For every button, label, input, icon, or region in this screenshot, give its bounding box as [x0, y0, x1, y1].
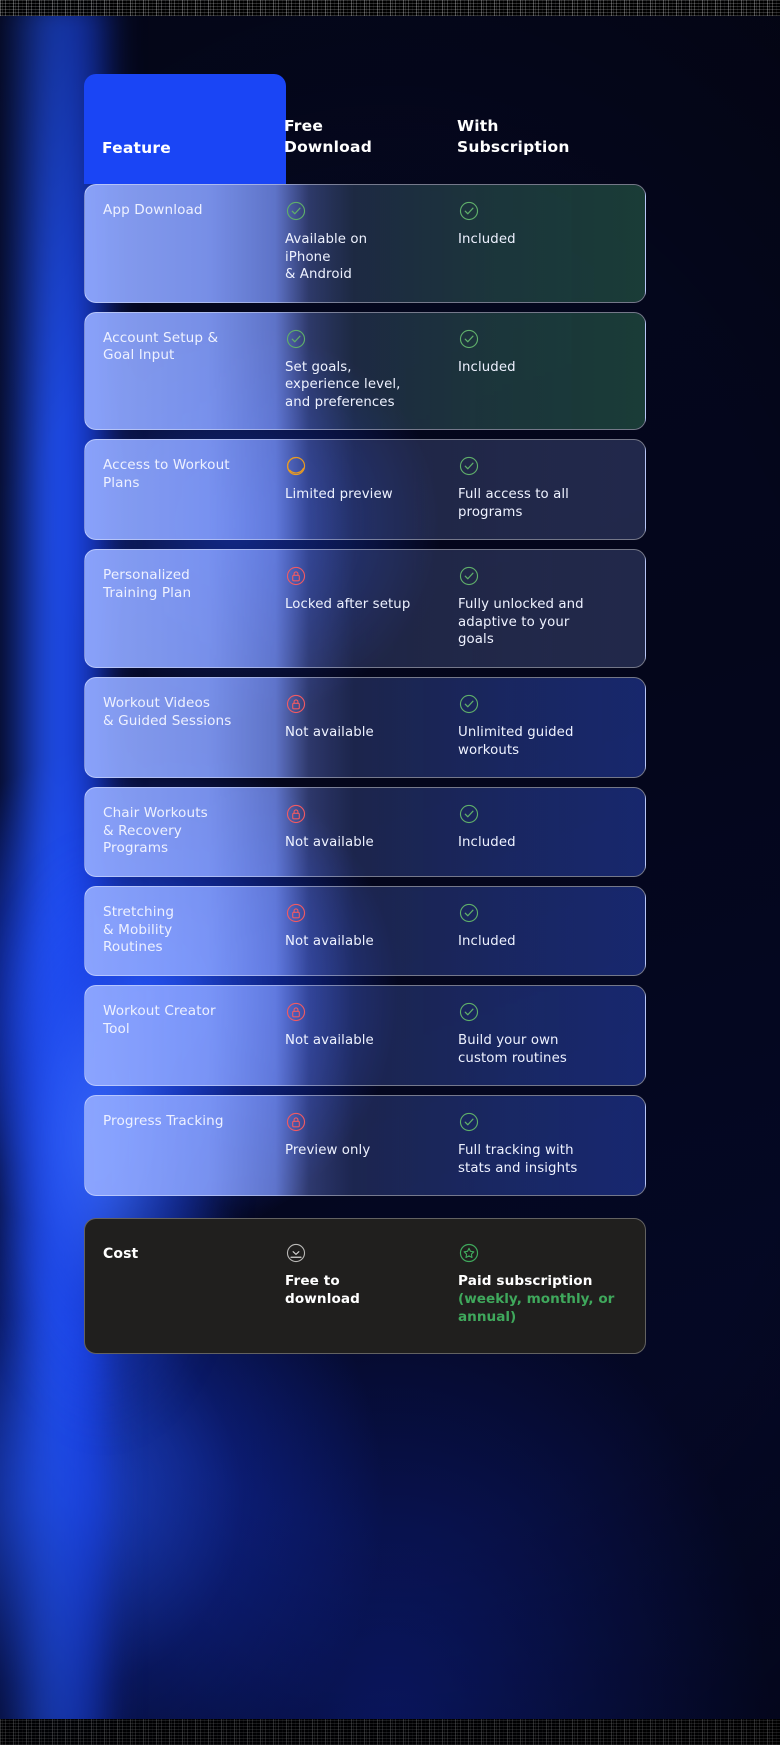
with-subscription-text: Full tracking with stats and insights — [458, 1142, 635, 1177]
table-header-row: Feature Free Download With Subscription — [84, 74, 646, 158]
feature-label: App Download — [103, 202, 273, 220]
table-row[interactable]: Access to Workout Plans Limited preview … — [84, 439, 646, 540]
lock-circle-icon — [285, 1001, 307, 1023]
check-circle-icon — [285, 328, 307, 350]
feature-label: Progress Tracking — [103, 1113, 273, 1131]
lock-circle-icon — [285, 902, 307, 924]
free-download-cell: Limited preview — [285, 440, 458, 539]
lock-circle-icon — [285, 565, 307, 587]
with-subscription-cell: Fully unlocked and adaptive to your goal… — [458, 550, 646, 667]
cost-subscription-subtext: (weekly, monthly, or annual) — [458, 1291, 635, 1327]
table-row[interactable]: Workout Videos & Guided Sessions Not ava… — [84, 677, 646, 778]
feature-label: Account Setup & Goal Input — [103, 330, 273, 365]
check-circle-icon — [458, 1111, 480, 1133]
feature-label: Access to Workout Plans — [103, 457, 273, 492]
check-circle-icon — [458, 803, 480, 825]
feature-cell: Progress Tracking — [85, 1096, 285, 1195]
with-subscription-text: Unlimited guided workouts — [458, 724, 635, 759]
table-row[interactable]: Progress Tracking Preview only Full trac… — [84, 1095, 646, 1196]
free-download-text: Not available — [285, 1032, 446, 1050]
cost-subscription-text: Paid subscription — [458, 1273, 635, 1291]
with-subscription-text: Full access to all programs — [458, 486, 635, 521]
free-download-text: Preview only — [285, 1142, 446, 1160]
with-subscription-cell: Full access to all programs — [458, 440, 646, 539]
with-subscription-cell: Full tracking with stats and insights — [458, 1096, 646, 1195]
with-subscription-cell: Unlimited guided workouts — [458, 678, 646, 777]
free-download-cell: Locked after setup — [285, 550, 458, 667]
top-noise-strip — [0, 0, 780, 16]
free-download-text: Not available — [285, 834, 446, 852]
feature-label: Chair Workouts & Recovery Programs — [103, 805, 273, 858]
with-subscription-text: Included — [458, 231, 635, 249]
table-row[interactable]: Account Setup & Goal Input Set goals, ex… — [84, 312, 646, 431]
table-row[interactable]: Workout Creator Tool Not available Build… — [84, 985, 646, 1086]
bottom-noise-strip — [0, 1719, 780, 1745]
with-subscription-cell: Included — [458, 788, 646, 876]
feature-cell: Chair Workouts & Recovery Programs — [85, 788, 285, 876]
table-body: App Download Available on iPhone & Andro… — [84, 184, 646, 1196]
check-circle-icon — [458, 200, 480, 222]
partial-circle-icon — [285, 455, 307, 477]
feature-label: Personalized Training Plan — [103, 567, 273, 602]
cost-feature-cell: Cost — [85, 1219, 285, 1353]
free-download-cell: Available on iPhone & Android — [285, 185, 458, 302]
free-download-cell: Not available — [285, 678, 458, 777]
free-download-text: Available on iPhone & Android — [285, 231, 446, 284]
check-circle-icon — [285, 200, 307, 222]
with-subscription-text: Included — [458, 933, 635, 951]
feature-comparison-table: Feature Free Download With Subscription … — [84, 74, 646, 1354]
column-header-free-download-label: Free Download — [284, 116, 457, 158]
cost-free-cell: Free to download — [285, 1219, 458, 1353]
check-circle-icon — [458, 455, 480, 477]
free-download-text: Limited preview — [285, 486, 446, 504]
feature-cell: Stretching & Mobility Routines — [85, 887, 285, 975]
free-download-text: Locked after setup — [285, 596, 446, 614]
with-subscription-text: Fully unlocked and adaptive to your goal… — [458, 596, 635, 649]
feature-cell: Personalized Training Plan — [85, 550, 285, 667]
column-header-free-download: Free Download — [284, 116, 457, 158]
table-row[interactable]: Personalized Training Plan Locked after … — [84, 549, 646, 668]
feature-cell: Workout Videos & Guided Sessions — [85, 678, 285, 777]
check-circle-icon — [458, 902, 480, 924]
cost-feature-label: Cost — [103, 1245, 273, 1263]
check-circle-icon — [458, 1001, 480, 1023]
feature-label: Workout Videos & Guided Sessions — [103, 695, 273, 730]
cost-subscription-cell: Paid subscription (weekly, monthly, or a… — [458, 1219, 646, 1353]
column-header-feature: Feature — [84, 139, 284, 158]
table-row[interactable]: Chair Workouts & Recovery Programs Not a… — [84, 787, 646, 877]
table-row-cost[interactable]: Cost Free to download Paid subscription … — [84, 1218, 646, 1354]
free-download-cell: Not available — [285, 788, 458, 876]
free-download-text: Set goals, experience level, and prefere… — [285, 359, 446, 412]
lock-circle-icon — [285, 693, 307, 715]
with-subscription-text: Included — [458, 359, 635, 377]
with-subscription-text: Included — [458, 834, 635, 852]
table-row[interactable]: App Download Available on iPhone & Andro… — [84, 184, 646, 303]
check-circle-icon — [458, 565, 480, 587]
with-subscription-text: Build your own custom routines — [458, 1032, 635, 1067]
check-circle-icon — [458, 328, 480, 350]
feature-label: Stretching & Mobility Routines — [103, 904, 273, 957]
column-header-feature-label: Feature — [102, 139, 284, 158]
star-circle-icon — [458, 1242, 480, 1264]
lock-circle-icon — [285, 803, 307, 825]
column-header-with-subscription-label: With Subscription — [457, 116, 646, 158]
feature-cell: App Download — [85, 185, 285, 302]
with-subscription-cell: Build your own custom routines — [458, 986, 646, 1085]
with-subscription-cell: Included — [458, 185, 646, 302]
feature-cell: Access to Workout Plans — [85, 440, 285, 539]
free-download-cell: Set goals, experience level, and prefere… — [285, 313, 458, 430]
with-subscription-cell: Included — [458, 887, 646, 975]
free-download-cell: Not available — [285, 887, 458, 975]
check-circle-icon — [458, 693, 480, 715]
free-download-cell: Not available — [285, 986, 458, 1085]
free-download-text: Not available — [285, 933, 446, 951]
feature-cell: Account Setup & Goal Input — [85, 313, 285, 430]
download-circle-icon — [285, 1242, 307, 1264]
lock-circle-icon — [285, 1111, 307, 1133]
feature-cell: Workout Creator Tool — [85, 986, 285, 1085]
table-row[interactable]: Stretching & Mobility Routines Not avail… — [84, 886, 646, 976]
free-download-text: Not available — [285, 724, 446, 742]
feature-label: Workout Creator Tool — [103, 1003, 273, 1038]
free-download-cell: Preview only — [285, 1096, 458, 1195]
cost-free-text: Free to download — [285, 1273, 446, 1309]
column-header-with-subscription: With Subscription — [457, 116, 646, 158]
with-subscription-cell: Included — [458, 313, 646, 430]
